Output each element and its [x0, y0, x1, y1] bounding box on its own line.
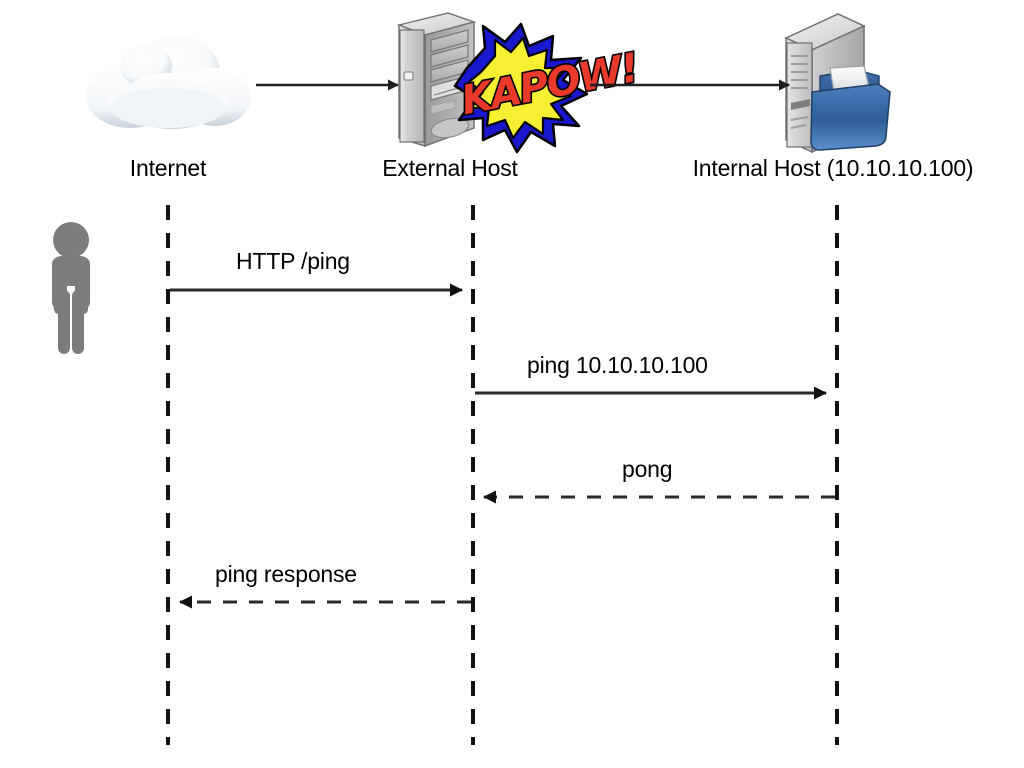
message-label-pong: pong: [622, 456, 672, 483]
participant-label-internal-host: Internal Host (10.10.10.100): [653, 155, 1013, 182]
server-folder-icon: [786, 14, 890, 152]
cloud-icon: [86, 36, 251, 129]
sequence-diagram-canvas: KAPOW!: [0, 0, 1024, 768]
message-label-ping-response: ping response: [215, 561, 357, 588]
message-label-http-ping: HTTP /ping: [236, 248, 350, 275]
participant-label-internet: Internet: [68, 155, 268, 182]
kapow-badge: KAPOW!: [455, 24, 642, 152]
message-label-ping-ip: ping 10.10.10.100: [527, 352, 708, 379]
person-icon: [52, 222, 90, 354]
participant-label-external-host: External Host: [350, 155, 550, 182]
